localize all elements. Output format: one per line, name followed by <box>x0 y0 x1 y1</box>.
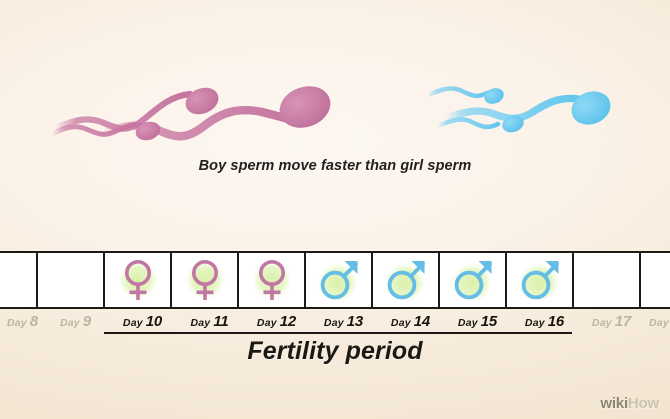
wikihow-watermark: wikiHow <box>600 395 659 412</box>
day-number: 14 <box>414 313 430 330</box>
calendar-cell-day-11[interactable] <box>172 253 239 307</box>
day-label-15: Day 15 <box>444 309 511 334</box>
day-label-11: Day 11 <box>176 309 243 334</box>
calendar-cell-day-15[interactable] <box>440 253 507 307</box>
fertility-period-underline <box>104 332 572 334</box>
female-symbol-icon <box>182 255 228 305</box>
female-symbol-icon <box>115 255 161 305</box>
illustration-canvas: Boy sperm move faster than girl sperm <box>0 0 670 419</box>
day-number: 10 <box>146 313 162 330</box>
calendar-cell-day-16[interactable] <box>507 253 574 307</box>
calendar-cell-day-18[interactable] <box>641 253 670 307</box>
day-number: 12 <box>280 313 296 330</box>
male-symbol-icon <box>516 255 564 305</box>
day-word: Day <box>190 317 210 329</box>
day-word: Day <box>391 317 411 329</box>
girl-sperm-large <box>102 79 336 136</box>
day-number: 17 <box>615 313 631 330</box>
calendar-cell-day-12[interactable] <box>239 253 306 307</box>
day-word: Day <box>257 317 277 329</box>
illustration-caption: Boy sperm move faster than girl sperm <box>0 158 670 174</box>
day-word: Day <box>649 317 669 329</box>
boy-sperm-group <box>428 86 616 135</box>
day-number: 13 <box>347 313 363 330</box>
female-symbol-icon <box>249 255 295 305</box>
day-number: 16 <box>548 313 564 330</box>
day-number: 11 <box>213 313 228 330</box>
watermark-how: How <box>628 395 659 412</box>
day-label-14: Day 14 <box>377 309 444 334</box>
day-number: 15 <box>481 313 497 330</box>
calendar-cell-day-10[interactable] <box>105 253 172 307</box>
day-word: Day <box>60 317 80 329</box>
day-number: 9 <box>83 313 91 330</box>
day-label-10: Day 10 <box>109 309 176 334</box>
calendar-row <box>0 251 670 309</box>
day-label-12: Day 12 <box>243 309 310 334</box>
calendar-cell-day-9[interactable] <box>38 253 105 307</box>
day-word: Day <box>458 317 478 329</box>
calendar-cell-day-17[interactable] <box>574 253 641 307</box>
day-number: 8 <box>30 313 38 330</box>
male-symbol-icon <box>382 255 430 305</box>
male-symbol-icon <box>449 255 497 305</box>
day-word: Day <box>525 317 545 329</box>
fertility-period-label: Fertility period <box>0 337 670 366</box>
day-label-13: Day 13 <box>310 309 377 334</box>
day-word: Day <box>324 317 344 329</box>
watermark-wiki: wiki <box>600 395 628 412</box>
day-label-8: Day 8 <box>0 309 42 334</box>
day-label-18: Day <box>645 309 670 334</box>
day-label-16: Day 16 <box>511 309 578 334</box>
day-word: Day <box>592 317 612 329</box>
girl-sperm-group <box>52 79 336 143</box>
boy-sperm-medium <box>428 86 506 107</box>
day-label-17: Day 17 <box>578 309 645 334</box>
day-word: Day <box>123 317 143 329</box>
calendar-cell-day-13[interactable] <box>306 253 373 307</box>
calendar-cell-day-8[interactable] <box>0 253 38 307</box>
sperm-illustration <box>0 0 670 252</box>
male-symbol-icon <box>315 255 363 305</box>
calendar-cell-day-14[interactable] <box>373 253 440 307</box>
calendar-day-labels: Day 8 Day 9 Day 10 Day 11 Day 12 Day 13 … <box>0 309 670 334</box>
day-label-9: Day 9 <box>42 309 109 334</box>
day-word: Day <box>7 317 27 329</box>
